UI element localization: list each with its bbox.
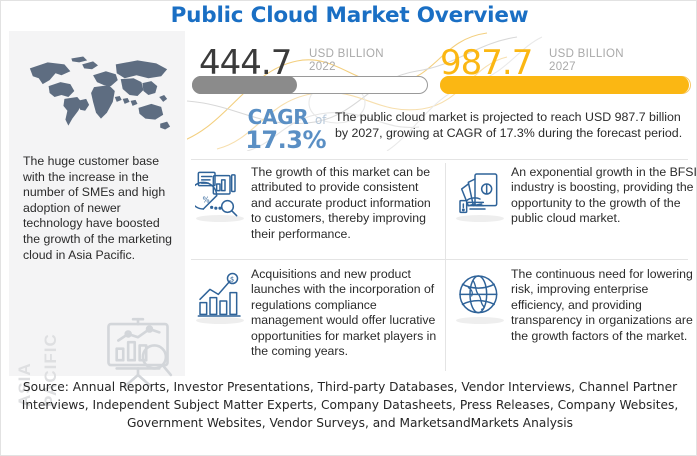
svg-text:$: $: [230, 275, 234, 283]
divider-vertical: [445, 163, 446, 371]
insight-card: $ Acquisitions and new product launches …: [189, 265, 441, 365]
cagr-of-word: of: [315, 113, 326, 127]
stat-unit-label-2027: USD BILLION: [549, 48, 624, 60]
infographic-page: Public Cloud Market Overview: [0, 0, 697, 456]
insight-card: % The growth of this market can be attri…: [189, 163, 441, 263]
cagr-value: 17.3%: [201, 126, 326, 154]
stats-band: 444.7 USD BILLION 2022 987.7 USD BILLION…: [187, 31, 692, 153]
cagr-block: CAGR of 17.3%: [201, 105, 326, 154]
divider-top: [191, 159, 688, 160]
progress-bar-2027-fill: [440, 76, 689, 94]
region-panel: The huge customer base with the increase…: [9, 31, 185, 376]
insight-card-text: An exponential growth in the BFSI indust…: [511, 165, 697, 227]
world-map-icon: [19, 49, 177, 137]
insight-card: An exponential growth in the BFSI indust…: [449, 163, 697, 263]
hand-holding-cash-icon: [455, 169, 505, 219]
insight-card-text: The continuous need for lowering risk, i…: [511, 267, 697, 344]
progress-bar-2022: [192, 76, 428, 94]
stat-year-2027: 2027: [549, 61, 576, 73]
insight-card: The continuous need for lowering risk, i…: [449, 265, 697, 365]
page-title: Public Cloud Market Overview: [1, 3, 697, 28]
globe-icon: [455, 271, 505, 321]
stat-unit-2027: USD BILLION 2027: [549, 48, 624, 74]
projection-text: The public cloud market is projected to …: [335, 110, 687, 141]
progress-bar-2027: [440, 76, 691, 94]
insight-card-text: The growth of this market can be attribu…: [251, 165, 439, 242]
region-description: The huge customer base with the increase…: [23, 154, 175, 263]
svg-text:%: %: [203, 195, 210, 204]
stat-unit-label-2022: USD BILLION: [309, 48, 384, 60]
source-footer: Source: Annual Reports, Investor Present…: [15, 379, 685, 432]
progress-bar-2022-fill: [192, 76, 297, 94]
stat-unit-2022: USD BILLION 2022: [309, 48, 384, 74]
main-content: 444.7 USD BILLION 2022 987.7 USD BILLION…: [187, 31, 692, 376]
insight-cards: % The growth of this market can be attri…: [187, 159, 692, 376]
report-pie-chart-search-icon: %: [195, 169, 245, 219]
bar-chart-growth-dollar-icon: $: [195, 271, 245, 321]
insight-card-text: Acquisitions and new product launches wi…: [251, 267, 439, 359]
stat-year-2022: 2022: [309, 61, 336, 73]
